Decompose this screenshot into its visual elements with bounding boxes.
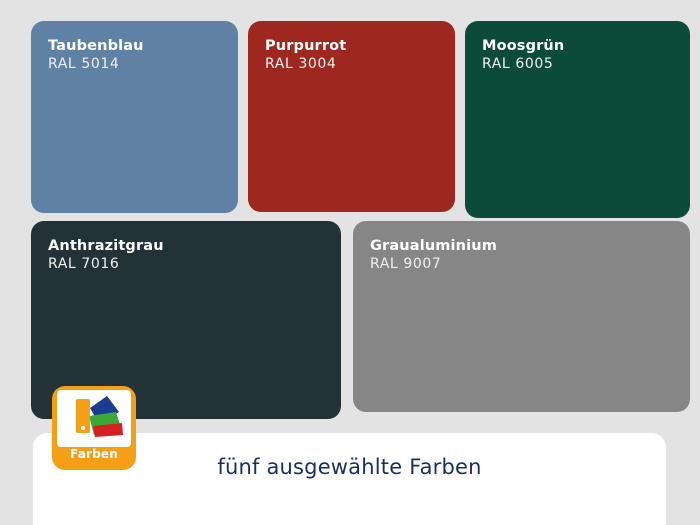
swatch-name: Moosgrün — [482, 37, 564, 55]
swatch-name: Purpurrot — [265, 37, 346, 55]
swatch-code: RAL 6005 — [482, 56, 564, 74]
swatch-name: Anthrazitgrau — [48, 237, 164, 255]
color-swatch-taubenblau[interactable]: Taubenblau RAL 5014 — [31, 21, 238, 213]
color-swatch-purpurrot[interactable]: Purpurrot RAL 3004 — [248, 21, 455, 212]
color-swatch-moosgruen[interactable]: Moosgrün RAL 6005 — [465, 21, 690, 218]
swatch-code: RAL 7016 — [48, 256, 164, 274]
swatch-name: Graualuminium — [370, 237, 497, 255]
swatch-code: RAL 3004 — [265, 56, 346, 74]
swatch-labels: Moosgrün RAL 6005 — [482, 37, 564, 74]
swatch-labels: Purpurrot RAL 3004 — [265, 37, 346, 74]
color-swatch-graualuminium[interactable]: Graualuminium RAL 9007 — [353, 221, 690, 412]
farben-logo-badge[interactable]: Farben — [52, 386, 136, 470]
swatch-labels: Graualuminium RAL 9007 — [370, 237, 497, 274]
swatch-code: RAL 5014 — [48, 56, 144, 74]
logo-tile — [57, 390, 131, 447]
swatch-labels: Anthrazitgrau RAL 7016 — [48, 237, 164, 274]
color-palette-board: Taubenblau RAL 5014 Purpurrot RAL 3004 M… — [0, 0, 700, 525]
swatch-code: RAL 9007 — [370, 256, 497, 274]
swatch-labels: Taubenblau RAL 5014 — [48, 37, 144, 74]
color-fan-deck-icon — [57, 390, 131, 447]
logo-label: Farben — [52, 447, 136, 461]
swatch-name: Taubenblau — [48, 37, 144, 55]
